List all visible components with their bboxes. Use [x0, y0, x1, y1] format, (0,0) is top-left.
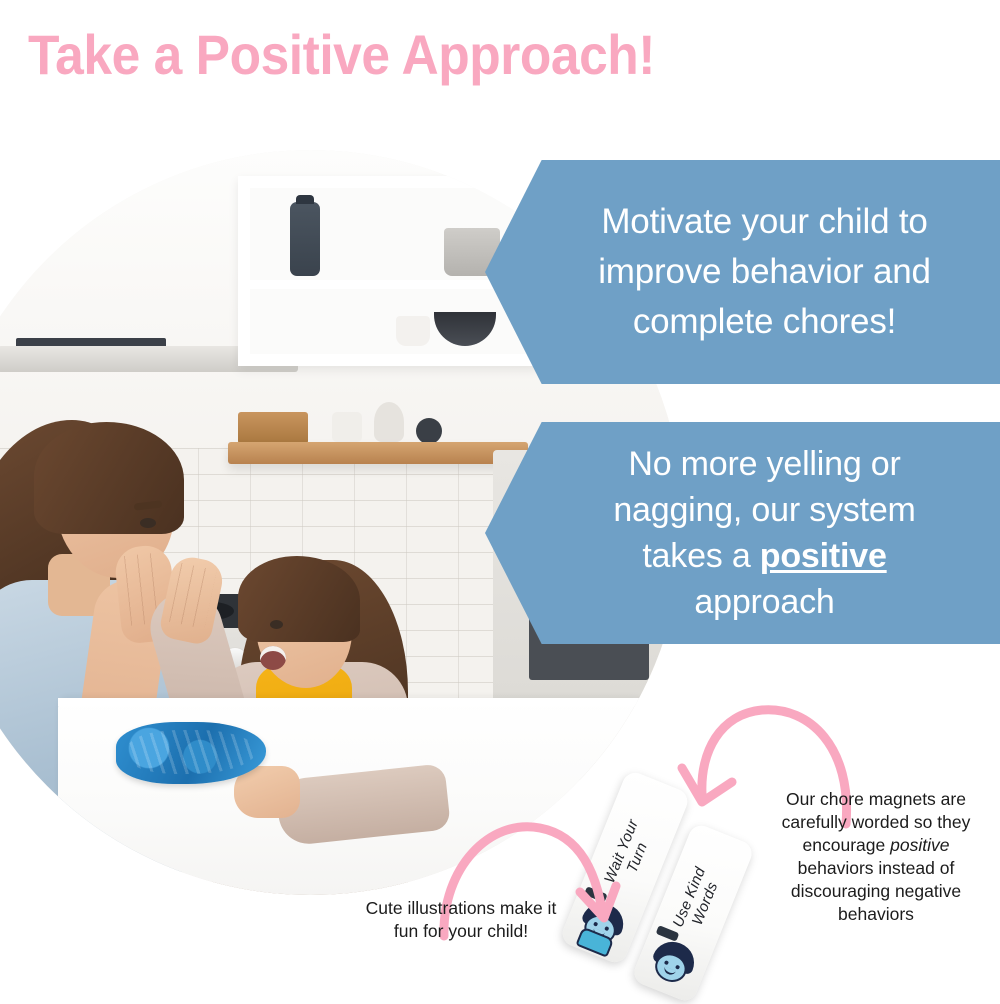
callout-banner-motivate: Motivate your child to improve behavior … [485, 160, 1000, 384]
callout-banner-no-yelling: No more yelling or nagging, our system t… [485, 422, 1000, 644]
page-title: Take a Positive Approach! [28, 24, 655, 86]
banner-no-yelling-line2: nagging, our system [613, 491, 915, 529]
shelf-vase [374, 402, 404, 442]
caption-right-line3-prefix: encourage [803, 835, 891, 855]
magnet-illustration-kid [645, 936, 700, 991]
mother-hair-front [34, 422, 184, 534]
cabinet-bottle [290, 202, 320, 276]
cabinet-cup [396, 316, 430, 346]
child-mouth [260, 646, 286, 670]
mother-eye [140, 518, 156, 528]
caption-right-line2: carefully worded so they [782, 812, 971, 832]
child-hair-front [238, 556, 360, 642]
shelf-ornament [416, 418, 442, 444]
caption-chore-magnets: Our chore magnets are carefully worded s… [760, 788, 992, 927]
banner-motivate-text: Motivate your child to improve behavior … [598, 197, 931, 346]
caption-left-line1: Cute illustrations make it [366, 898, 557, 918]
caption-right-emphasis: positive [890, 835, 949, 855]
caption-cute-illustrations: Cute illustrations make it fun for your … [336, 897, 586, 943]
caption-right-line6: behaviors [838, 904, 914, 924]
banner-no-yelling-line3-prefix: takes a [642, 537, 759, 575]
caption-right-line4: behaviors instead of [798, 858, 955, 878]
caption-right-line5: discouraging negative [791, 881, 961, 901]
caption-right-line1: Our chore magnets are [786, 789, 966, 809]
counter-edge [58, 698, 683, 706]
magnet-use-kind-words-label: Use Kind Words [670, 864, 726, 938]
banner-motivate-line2: improve behavior and [598, 252, 931, 291]
banner-motivate-line1: Motivate your child to [601, 202, 927, 241]
banner-no-yelling-line1: No more yelling or [628, 445, 900, 483]
banner-motivate-line3: complete chores! [633, 302, 896, 341]
caption-left-line2: fun for your child! [394, 921, 528, 941]
shelf-jar [332, 412, 362, 442]
wood-floating-shelf [228, 442, 528, 464]
cabinet-bowl [434, 312, 496, 346]
cutting-board [238, 412, 308, 444]
banner-no-yelling-line4: approach [694, 583, 834, 621]
cartoon-kid-face-icon [645, 936, 700, 991]
banner-no-yelling-emphasis: positive [760, 537, 887, 575]
child-eye [270, 620, 283, 629]
banner-no-yelling-text: No more yelling or nagging, our system t… [613, 441, 915, 626]
cabinet-shelf [250, 280, 526, 289]
